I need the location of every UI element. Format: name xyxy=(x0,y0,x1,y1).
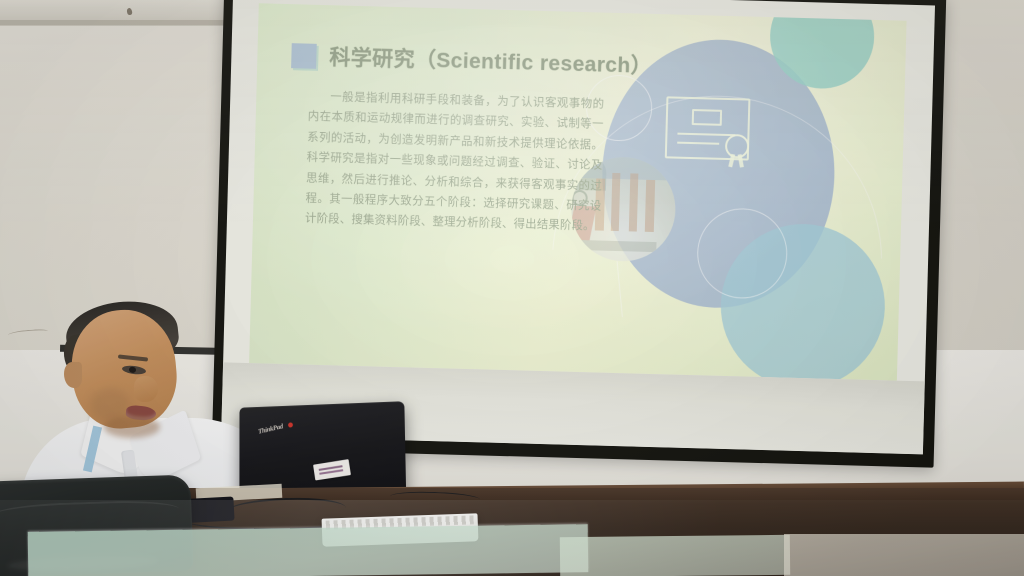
certificate-icon xyxy=(665,96,763,171)
nose xyxy=(134,376,158,402)
bag-seam xyxy=(0,499,180,532)
screen-frame: 科学研究（Scientific research） 一般是指利用科研手段和装备，… xyxy=(212,0,946,468)
slide-title: 科学研究（Scientific research） xyxy=(329,41,652,80)
photo-column xyxy=(611,173,621,231)
slide-title-row: 科学研究（Scientific research） xyxy=(291,40,652,80)
certificate-inner-box xyxy=(692,109,722,126)
asset-label-sticker xyxy=(313,459,351,480)
glass-tabletop-panel xyxy=(28,524,589,576)
projection-screen: 科学研究（Scientific research） 一般是指利用科研手段和装备，… xyxy=(212,0,946,468)
thinkpad-logo: ThinkPad xyxy=(258,419,297,437)
thinkpad-logo-text: ThinkPad xyxy=(258,422,284,435)
screen-surface: 科学研究（Scientific research） 一般是指利用科研手段和装备，… xyxy=(221,0,935,454)
photo-column xyxy=(629,173,639,231)
decor-connector-line xyxy=(617,261,623,317)
chin-shadow xyxy=(104,416,160,438)
glass-tabletop-panel xyxy=(784,534,1024,576)
photo-column xyxy=(645,180,655,232)
thinkpad-logo-dot xyxy=(288,422,294,428)
presentation-slide: 科学研究（Scientific research） 一般是指利用科研手段和装备，… xyxy=(249,3,907,380)
ear xyxy=(64,362,82,388)
photo-scene: 科学研究（Scientific research） 一般是指利用科研手段和装备，… xyxy=(0,0,1024,576)
slide-body-text: 一般是指利用科研手段和装备，为了认识客观事物的内在本质和运动规律而进行的调查研究… xyxy=(305,87,605,238)
ceiling xyxy=(0,0,250,26)
title-accent-square xyxy=(291,43,317,69)
glass-tabletop-panel xyxy=(560,535,790,576)
